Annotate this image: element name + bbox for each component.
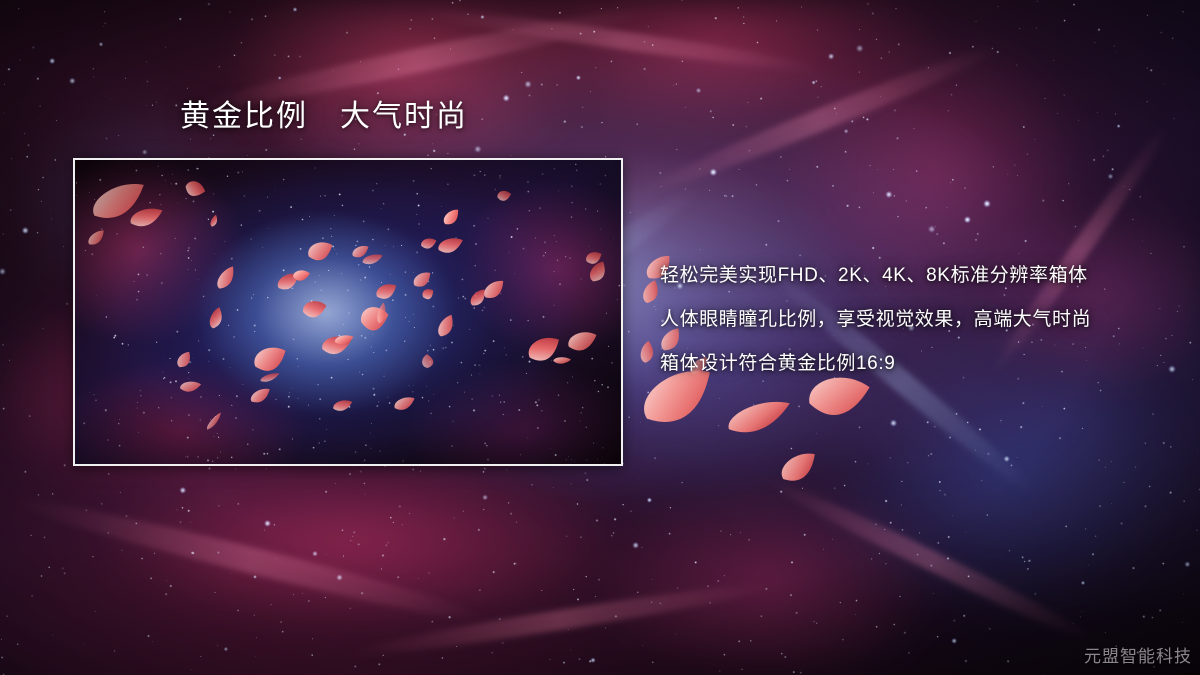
presentation-slide: 黄金比例 大气时尚 — [0, 0, 1200, 675]
framed-image-panel[interactable] — [73, 158, 623, 466]
framed-image-content — [75, 160, 621, 464]
watermark: 元盟智能科技 — [1084, 642, 1192, 667]
body-text-block: 轻松完美实现FHD、2K、4K、8K标准分辨率箱体 人体眼睛瞳孔比例，享受视觉效… — [660, 254, 1180, 386]
body-line-3: 箱体设计符合黄金比例16:9 — [660, 342, 1180, 386]
panel-vignette — [75, 160, 621, 464]
body-line-1: 轻松完美实现FHD、2K、4K、8K标准分辨率箱体 — [660, 254, 1180, 298]
body-line-2: 人体眼睛瞳孔比例，享受视觉效果，高端大气时尚 — [660, 298, 1180, 342]
page-title: 黄金比例 大气时尚 — [180, 99, 468, 135]
